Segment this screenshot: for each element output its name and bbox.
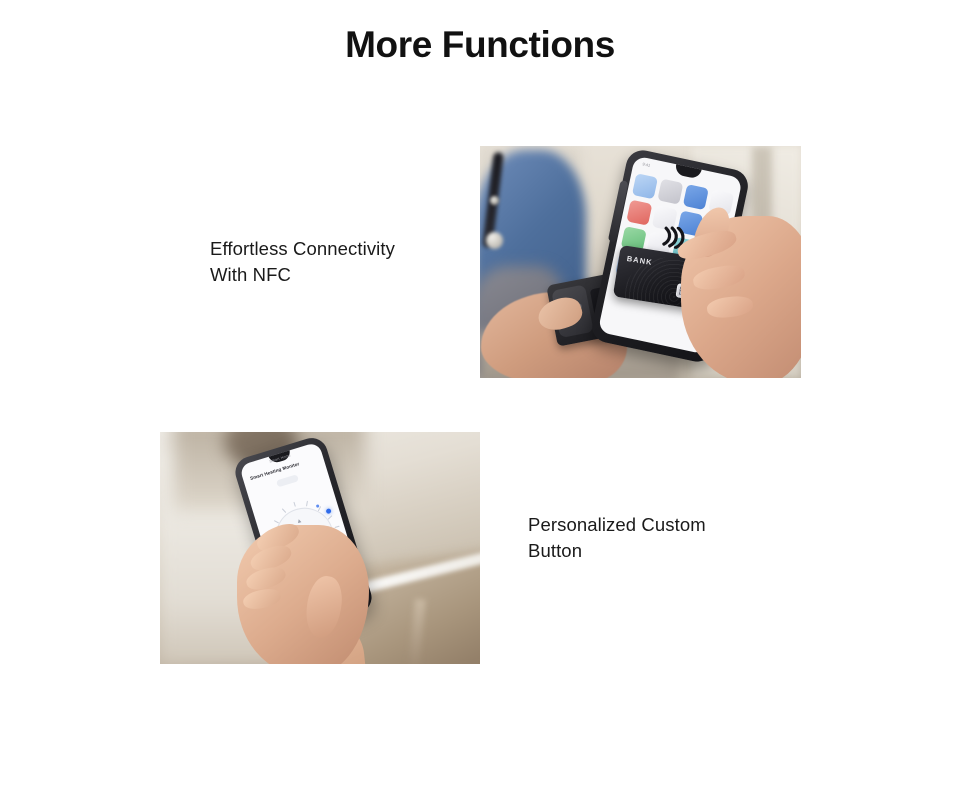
more-functions-page: More Functions Effortless Connectivity W… [0, 0, 960, 800]
photo-background-nfc: 9:41 [480, 146, 801, 378]
feature-caption-nfc: Effortless Connectivity With NFC [210, 236, 472, 288]
app-icon[interactable] [632, 173, 658, 199]
app-icon[interactable] [658, 178, 684, 204]
stethoscope-bell-icon [486, 232, 503, 249]
photo-background-thermostat: Smart Home Smart Heating Monitor [160, 432, 480, 664]
phone-status-bar: 9:41 [642, 161, 651, 168]
app-icon[interactable] [683, 184, 709, 210]
app-icon[interactable] [627, 199, 653, 225]
page-title: More Functions [0, 22, 960, 68]
feature-row-custom-button: Personalized Custom Button Smart [0, 432, 960, 664]
stethoscope-clip-icon [490, 196, 499, 205]
feature-row-nfc: Effortless Connectivity With NFC [0, 146, 960, 378]
custom-button-photo: Smart Home Smart Heating Monitor [160, 432, 480, 664]
feature-caption-custom-button: Personalized Custom Button [528, 512, 790, 564]
bank-card-label: BANK [627, 254, 654, 267]
dial-marker [315, 504, 319, 508]
thermostat-mode-pill[interactable] [275, 474, 298, 487]
nfc-payment-photo: 9:41 [480, 146, 801, 378]
